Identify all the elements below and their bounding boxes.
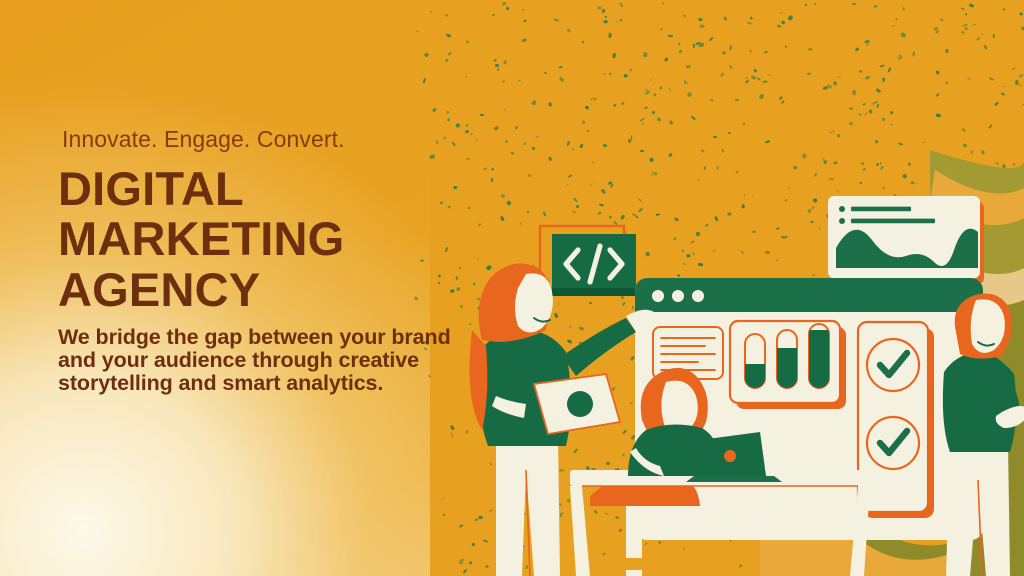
bar-chart-card (730, 321, 846, 409)
bar-3 (809, 324, 829, 390)
code-editor-window (540, 226, 636, 296)
headline-line-3: AGENCY (58, 265, 488, 316)
page-title: DIGITAL MARKETING AGENCY (58, 164, 488, 316)
tagline: Innovate. Engage. Convert. (62, 126, 488, 154)
headline-line-2: MARKETING (58, 214, 488, 265)
analytics-chart-card (828, 196, 984, 286)
bar-1 (745, 334, 765, 390)
hero-copy: Innovate. Engage. Convert. DIGITAL MARKE… (58, 126, 488, 396)
illustration (430, 0, 1024, 576)
hero-banner: Innovate. Engage. Convert. DIGITAL MARKE… (0, 0, 1024, 576)
browser-dots (652, 290, 704, 302)
body-copy: We bridge the gap between your brand and… (58, 326, 483, 396)
bar-capsules (745, 324, 829, 390)
headline-line-1: DIGITAL (58, 164, 488, 215)
bar-2 (777, 330, 797, 390)
